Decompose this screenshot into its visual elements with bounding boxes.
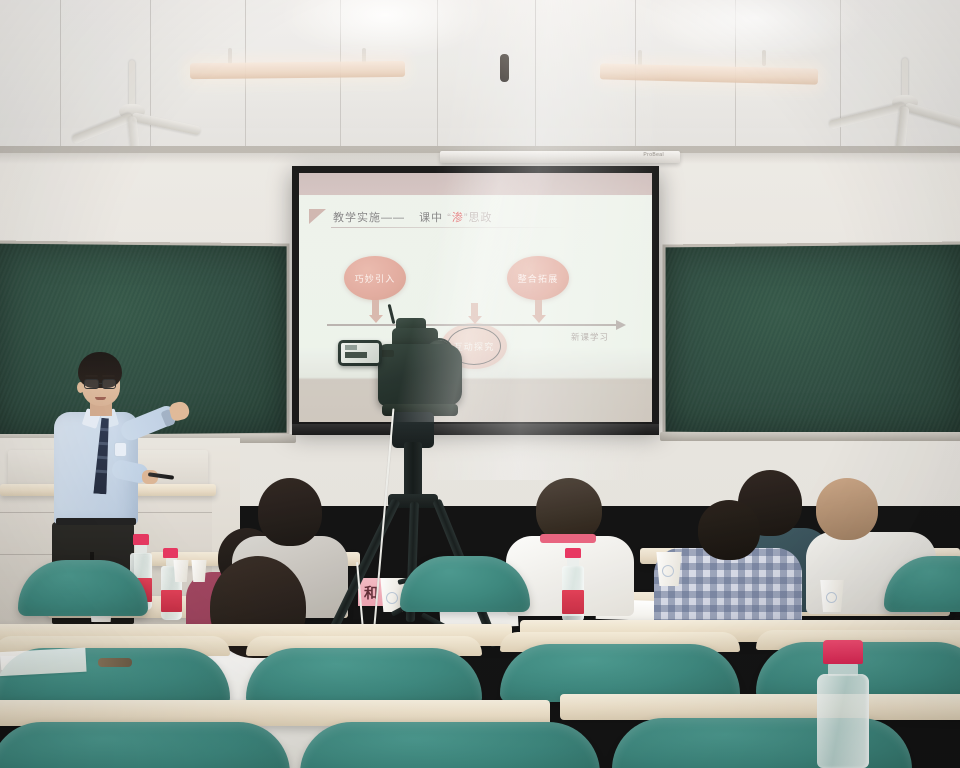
attendee-white-polo-head [536,478,602,542]
chalk-rail-right [660,432,960,441]
slide-corner-triangle [309,209,326,224]
slide-node-3-arrow [535,300,542,316]
slide-node-3-label: 整合拓展 [518,272,559,285]
classroom-photo-scene: ProBeal 教学实施—— 课中 “渗”思政 巧妙引入 互动探究 [0,0,960,768]
slide-title-underline [331,227,567,228]
slide-top-band [299,173,652,195]
ceiling-fan-left [72,60,192,130]
ceiling-light-glow-right [640,0,870,62]
slide-title-sub: 课中 [419,212,443,224]
ceiling-light-glow-left [280,0,490,60]
tripod-center-column [404,442,422,502]
bottle-cap [133,534,149,545]
ceiling-fan-right [845,58,960,138]
attendee-dark-hair-head [258,478,322,546]
chalkboard-right [663,242,960,438]
chair-mid-left[interactable] [18,560,148,616]
attendee-white-polo-collar [540,534,596,543]
presenter-belt [56,518,136,525]
eyeglasses-icon [84,379,99,389]
water-bottle-foreground [810,640,876,768]
slide-timeline-label: 新课学习 [571,331,609,343]
presenter-badge [114,442,127,457]
slide-title-highlight: 渗 [452,212,464,224]
slide-title-tail: 思政 [469,212,493,224]
water-bottle-center [560,548,586,622]
housing-brand-label: ProBeal [643,152,664,158]
chair-bottom-left[interactable] [0,722,290,768]
projector-screen-housing: ProBeal [440,151,680,163]
chair-front-center[interactable] [246,648,482,706]
slide-node-3: 整合拓展 [507,256,569,300]
chair-mid-center[interactable] [400,556,530,612]
bottle-cap-foreground [823,640,863,664]
slide-title-main: 教学实施—— [333,212,405,224]
camera-lcd-screen [338,340,382,366]
chair-bottom-center[interactable] [300,722,600,768]
slide-title: 教学实施—— 课中 “渗”思政 [333,209,583,225]
ceiling [0,0,960,150]
attendee-light-shirt-head [816,478,878,540]
fluorescent-fixture-right [600,63,818,84]
attendee-checkered-head [698,500,760,560]
eyeglasses-on-desk [98,658,132,667]
slide-node-1: 巧妙引入 [344,256,406,300]
ceiling-sensor [500,54,509,82]
plastic-bag-front [0,648,87,677]
desk-row-bottom-right [560,694,960,720]
slide-node-1-label: 巧妙引入 [355,272,396,285]
fluorescent-fixture-left [190,61,405,79]
